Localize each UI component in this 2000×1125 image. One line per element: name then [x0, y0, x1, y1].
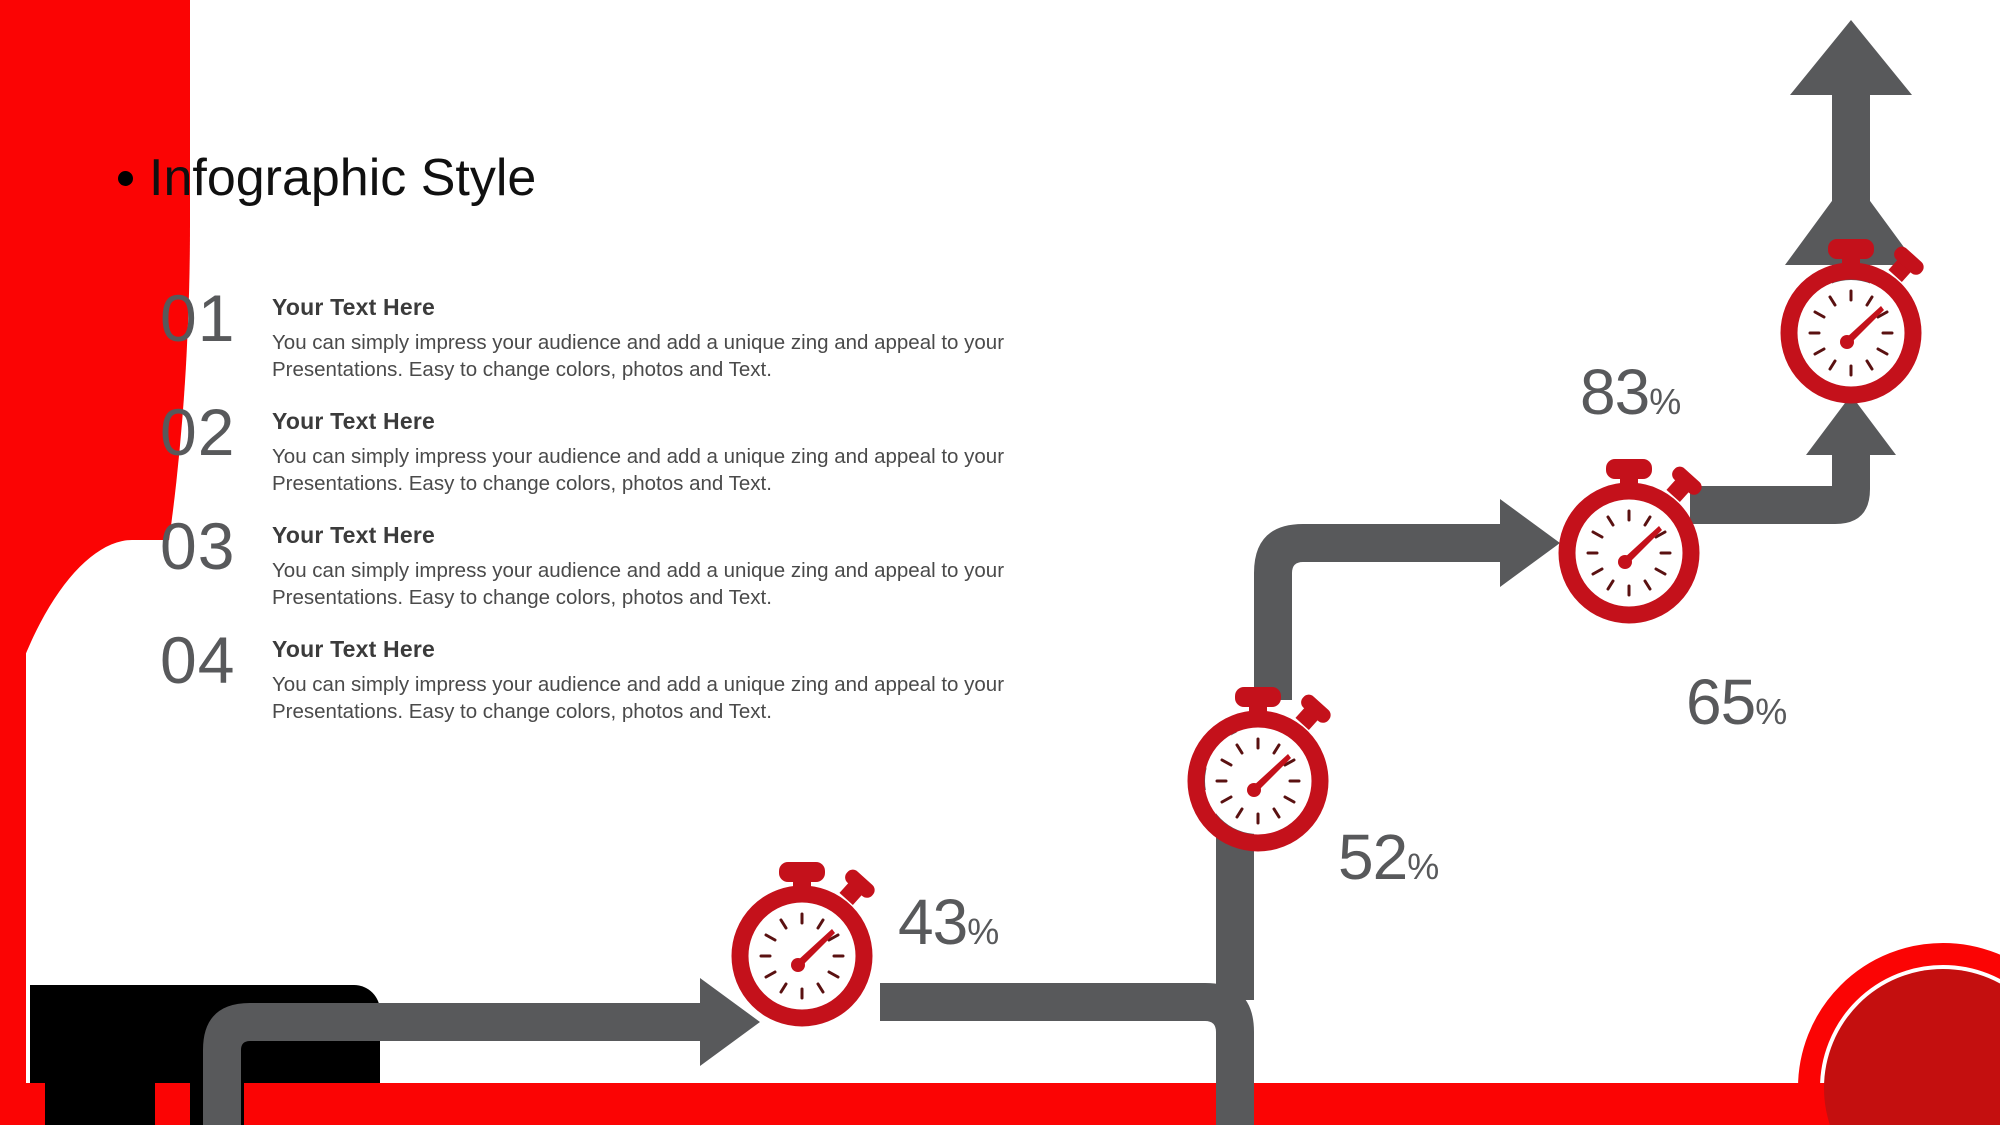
flow-segment-four	[1690, 395, 1896, 524]
percent-value: 83	[1580, 356, 1649, 428]
percent-label-83: 83%	[1580, 355, 1681, 429]
percent-suffix: %	[967, 911, 999, 952]
stopwatch-icon[interactable]	[1567, 459, 1705, 615]
flow-segment-three	[1254, 499, 1560, 700]
stair-flow-chart: 43% 52% 65% 83%	[0, 0, 2000, 1125]
flow-arrows-group	[0, 0, 2000, 1125]
percent-label-52: 52%	[1338, 820, 1439, 894]
percent-value: 43	[898, 886, 967, 958]
percent-suffix: %	[1649, 381, 1681, 422]
percent-suffix: %	[1407, 846, 1439, 887]
slide-canvas: Infographic Style 01 Your Text Here You …	[0, 0, 2000, 1125]
stopwatch-icon[interactable]	[1196, 687, 1334, 843]
percent-value: 52	[1338, 821, 1407, 893]
percent-label-65: 65%	[1686, 665, 1787, 739]
top-arrow-icon	[1790, 20, 1912, 228]
flow-segment-one	[203, 978, 760, 1125]
percent-suffix: %	[1755, 691, 1787, 732]
stopwatch-icon[interactable]	[740, 862, 878, 1018]
percent-label-43: 43%	[898, 885, 999, 959]
percent-value: 65	[1686, 666, 1755, 738]
